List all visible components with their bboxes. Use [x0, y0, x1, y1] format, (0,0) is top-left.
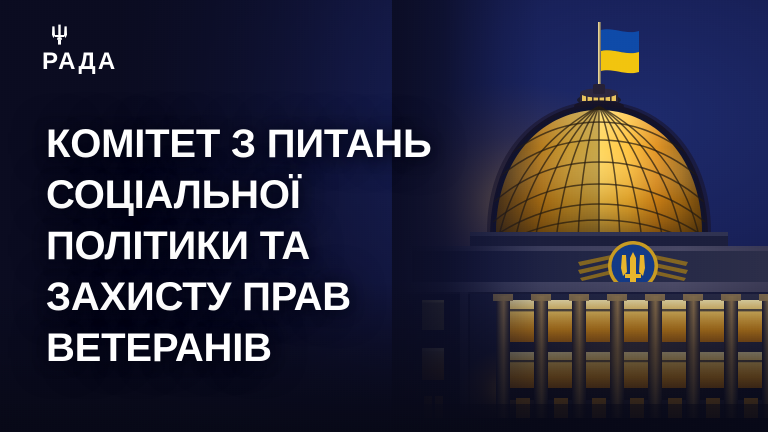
title-line-2: СОЦІАЛЬНОЇ — [46, 170, 566, 221]
title-line-5: ВЕТЕРАНІВ — [46, 323, 566, 374]
tryzub-icon — [51, 24, 68, 45]
rada-logo[interactable]: РАДА — [42, 24, 152, 74]
page-title: КОМІТЕТ З ПИТАНЬ СОЦІАЛЬНОЇ ПОЛІТИКИ ТА … — [46, 119, 566, 374]
title-line-1: КОМІТЕТ З ПИТАНЬ — [46, 119, 566, 170]
poster-canvas: РАДА КОМІТЕТ З ПИТАНЬ СОЦІАЛЬНОЇ ПОЛІТИК… — [0, 0, 768, 432]
title-line-3: ПОЛІТИКИ ТА — [46, 221, 566, 272]
rada-wordmark: РАДА — [42, 50, 152, 74]
title-line-4: ЗАХИСТУ ПРАВ — [46, 272, 566, 323]
